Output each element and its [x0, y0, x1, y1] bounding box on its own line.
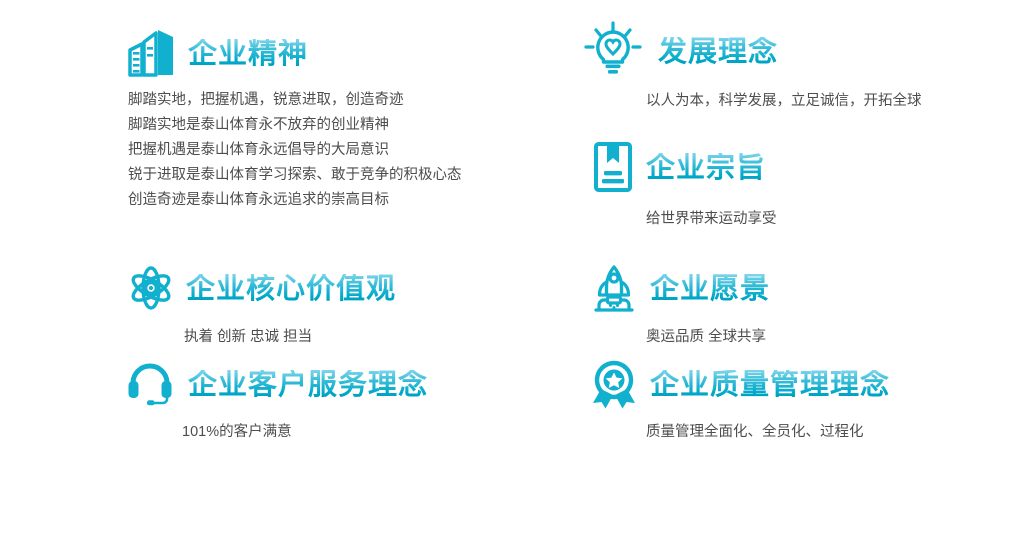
section-development-concept: 发展理念 以人为本，科学发展，立足诚信，开拓全球 [578, 20, 922, 112]
section-body: 以人为本，科学发展，立足诚信，开拓全球 [646, 90, 922, 112]
section-quality-management: 企业质量管理理念 质量管理全面化、全员化、过程化 [588, 357, 890, 443]
section-title: 企业愿景 [650, 274, 770, 303]
section-body: 给世界带来运动享受 [646, 208, 777, 230]
spirit-line-list: 脚踏实地，把握机遇，锐意进取，创造奇迹 脚踏实地是泰山体育永不放弃的创业精神 把… [128, 88, 462, 213]
section-body: 脚踏实地，把握机遇，锐意进取，创造奇迹 脚踏实地是泰山体育永不放弃的创业精神 把… [128, 88, 462, 213]
section-header: 企业精神 [126, 26, 462, 80]
list-item: 把握机遇是泰山体育永远倡导的大局意识 [128, 138, 462, 163]
list-item: 创造奇迹是泰山体育永远追求的崇高目标 [128, 188, 462, 213]
section-title: 企业客户服务理念 [188, 370, 428, 399]
section-corporate-spirit: 企业精神 脚踏实地，把握机遇，锐意进取，创造奇迹 脚踏实地是泰山体育永不放弃的创… [126, 26, 462, 213]
section-body: 101%的客户满意 [182, 421, 428, 443]
quality-management-text: 质量管理全面化、全员化、过程化 [646, 421, 890, 443]
section-header: 发展理念 [578, 20, 922, 82]
building-icon [126, 28, 178, 78]
section-header: 企业宗旨 [592, 140, 777, 194]
list-item: 脚踏实地是泰山体育永不放弃的创业精神 [128, 113, 462, 138]
book-bookmark-icon [592, 141, 636, 193]
section-core-values: 企业核心价值观 执着 创新 忠诚 担当 [126, 261, 396, 348]
customer-service-text: 101%的客户满意 [182, 421, 428, 443]
rocket-icon [588, 264, 640, 312]
section-title: 企业宗旨 [646, 153, 766, 182]
section-header: 企业质量管理理念 [588, 357, 890, 411]
lightbulb-heart-icon [578, 21, 648, 81]
section-title: 企业精神 [188, 39, 308, 68]
development-text: 以人为本，科学发展，立足诚信，开拓全球 [646, 90, 922, 112]
headset-icon [124, 361, 178, 407]
section-corporate-purpose: 企业宗旨 给世界带来运动享受 [592, 140, 777, 230]
core-values-text: 执着 创新 忠诚 担当 [184, 326, 396, 348]
section-title: 发展理念 [658, 37, 778, 66]
list-item: 脚踏实地，把握机遇，锐意进取，创造奇迹 [128, 88, 462, 113]
atom-icon [126, 264, 176, 312]
section-corporate-vision: 企业愿景 奥运品质 全球共享 [588, 261, 770, 348]
section-title: 企业核心价值观 [186, 274, 396, 303]
section-title: 企业质量管理理念 [650, 370, 890, 399]
list-item: 锐于进取是泰山体育学习探索、敢于竞争的积极心态 [128, 163, 462, 188]
section-header: 企业核心价值观 [126, 261, 396, 315]
medal-star-icon [588, 359, 640, 409]
purpose-text: 给世界带来运动享受 [646, 208, 777, 230]
section-body: 质量管理全面化、全员化、过程化 [646, 421, 890, 443]
culture-page: 企业精神 脚踏实地，把握机遇，锐意进取，创造奇迹 脚踏实地是泰山体育永不放弃的创… [0, 0, 1013, 541]
section-body: 奥运品质 全球共享 [646, 326, 770, 348]
section-header: 企业客户服务理念 [124, 357, 428, 411]
section-customer-service: 企业客户服务理念 101%的客户满意 [124, 357, 428, 443]
section-body: 执着 创新 忠诚 担当 [184, 326, 396, 348]
section-header: 企业愿景 [588, 261, 770, 315]
vision-text: 奥运品质 全球共享 [646, 326, 770, 348]
